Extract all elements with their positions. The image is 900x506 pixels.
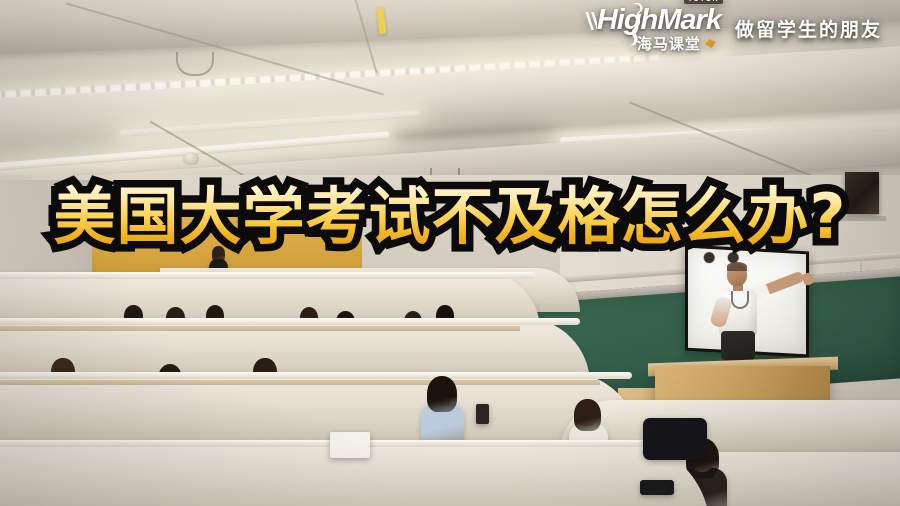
- logo-chinese-name: 海马课堂: [637, 33, 701, 54]
- logo-slash-icon: [584, 12, 597, 30]
- desk-edge: [0, 272, 536, 279]
- brand-tagline: 做留学生的朋友: [735, 15, 882, 46]
- notebook: [330, 432, 370, 458]
- logo-wordmark: HighMark: [597, 6, 721, 35]
- student-hair: [574, 399, 601, 431]
- seahorse-icon: [625, 1, 645, 51]
- ceiling-hook-icon: [176, 52, 214, 76]
- logo-chinese-row: 海马课堂: [637, 33, 716, 54]
- instructor: [705, 255, 815, 375]
- student-hair: [427, 376, 457, 412]
- wall-speaker-icon: [845, 172, 879, 214]
- promo-banner: HighMark TUTOR 海马课堂 做留学生的朋友 美国大学考试不及格怎么办…: [0, 0, 900, 506]
- instructor-hair: [727, 262, 747, 271]
- student: [418, 368, 467, 443]
- logo-wordmark-row: HighMark TUTOR: [597, 6, 721, 35]
- smartphone: [640, 480, 674, 495]
- brand-logo: HighMark TUTOR 海马课堂 做留学生的朋友: [597, 6, 882, 54]
- coffee-cup: [476, 404, 489, 424]
- headline-fill: 美国大学考试不及格怎么办?: [54, 180, 847, 253]
- instructor-hand: [801, 272, 814, 287]
- sprinkler-icon: [183, 152, 199, 165]
- black-bag: [643, 418, 707, 460]
- tutor-badge: TUTOR: [684, 0, 723, 4]
- desk-trim: [0, 380, 600, 385]
- instructor-shorts: [721, 331, 755, 361]
- desk-edge: [0, 372, 632, 379]
- desk-trim: [0, 326, 520, 331]
- lecture-hall-photo: [0, 0, 900, 506]
- logo-mark: HighMark TUTOR 海马课堂: [597, 6, 721, 54]
- desk-edge: [0, 318, 580, 325]
- logo-accent-icon: [705, 39, 716, 48]
- instructor-lanyard: [731, 291, 749, 309]
- headline: 美国大学考试不及格怎么办? 美国大学考试不及格怎么办?: [54, 186, 847, 248]
